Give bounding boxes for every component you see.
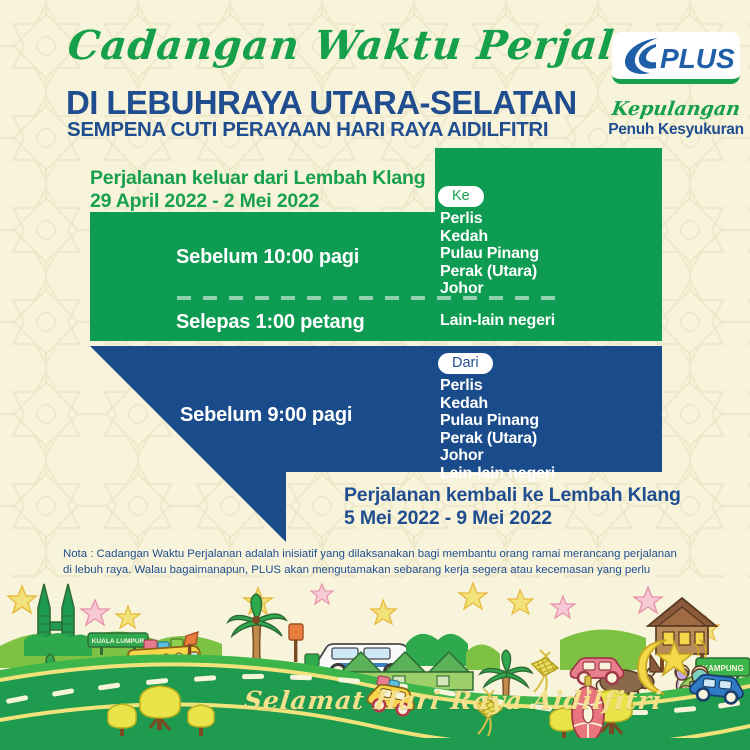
raya-greeting-text: Selamat Hari Raya Aidilfitri (242, 686, 664, 715)
svg-text:KUALA LUMPUR: KUALA LUMPUR (92, 638, 145, 645)
outbound-time-primary: Sebelum 10:00 pagi (176, 246, 359, 269)
outbound-heading: Perjalanan keluar dari Lembah Klang (90, 167, 425, 190)
plus-logo-icon: PLUS (612, 32, 740, 79)
hari-raya-illustration: KUALA LUMPUR (0, 578, 750, 750)
outbound-dates: 29 April 2022 - 2 Mei 2022 (90, 190, 319, 213)
outbound-divider (177, 296, 555, 300)
badge-dari: Dari (438, 353, 493, 374)
svg-text:PLUS: PLUS (660, 43, 735, 74)
inbound-heading: Perjalanan kembali ke Lembah Klang (344, 484, 681, 507)
outbound-time-secondary: Selepas 1:00 petang (176, 311, 365, 334)
tagline-line2: Penuh Kesyukuran (606, 121, 746, 139)
outbound-other-states: Lain-lain negeri (440, 312, 555, 330)
plus-logo: PLUS (612, 32, 740, 84)
page-title-main: DI LEBUHRAYA UTARA-SELATAN (66, 84, 577, 122)
page-subtitle: SEMPENA CUTI PERAYAAN HARI RAYA AIDILFIT… (67, 118, 548, 142)
outbound-destination-list: Perlis Kedah Pulau Pinang Perak (Utara) … (440, 210, 539, 298)
svg-text:KAMPUNG: KAMPUNG (702, 664, 743, 673)
campaign-tagline: Kepulangan Penuh Kesyukuran (606, 98, 746, 139)
inbound-origin-list: Perlis Kedah Pulau Pinang Perak (Utara) … (440, 377, 555, 483)
inbound-dates: 5 Mei 2022 - 9 Mei 2022 (344, 507, 552, 530)
badge-ke: Ke (438, 186, 484, 207)
inbound-time-primary: Sebelum 9:00 pagi (180, 404, 352, 427)
tagline-line1: Kepulangan (610, 98, 741, 120)
poster-canvas: Cadangan Waktu Perjalanan DI LEBUHRAYA U… (0, 0, 750, 750)
